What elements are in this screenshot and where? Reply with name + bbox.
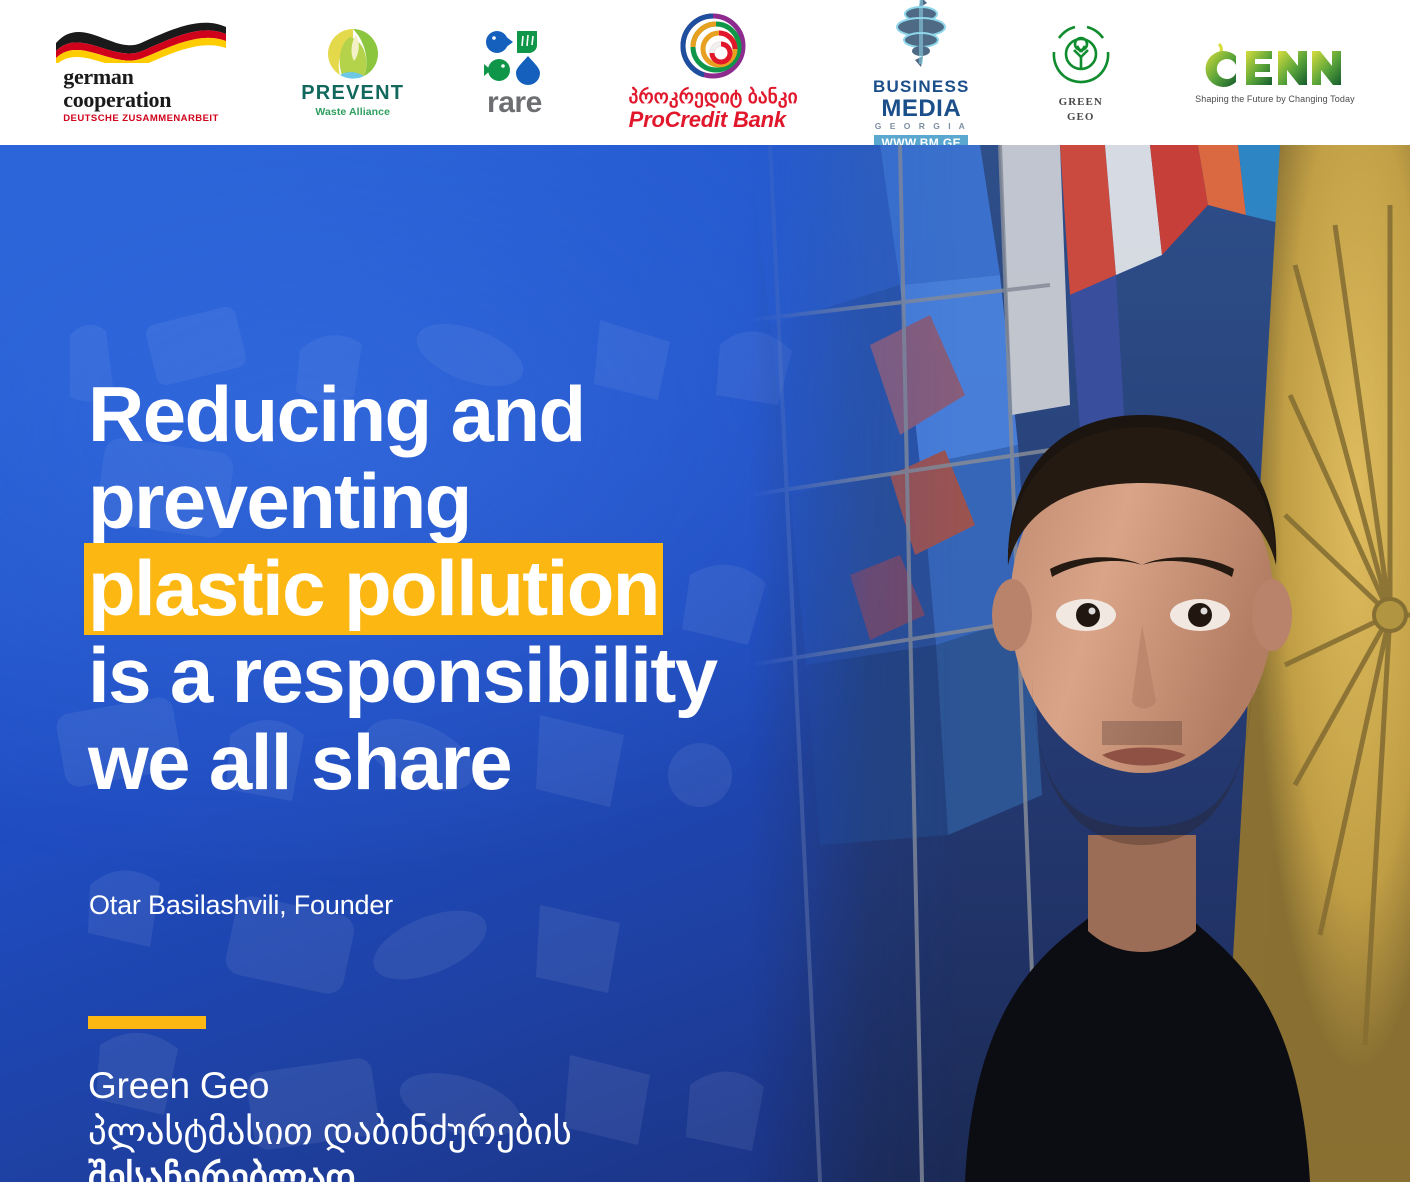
cenn-tagline: Shaping the Future by Changing Today [1195, 94, 1355, 104]
logo-rare: rare [475, 28, 553, 118]
logo-green-geo: GREEN GEO [1045, 22, 1117, 122]
prevent-wordmark: PREVENT [301, 82, 404, 105]
logo-business-media-georgia: BUSINESS MEDIA G E O R G I A WWW.BM.GE [873, 0, 970, 151]
headline-line-3-highlight: plastic pollution [84, 543, 663, 635]
gc-line1: german [63, 66, 219, 88]
rare-wordmark: rare [487, 88, 542, 118]
bm-line3: G E O R G I A [875, 121, 968, 133]
footer-org-name: Green Geo [88, 1063, 572, 1109]
prevent-leaf-icon [320, 27, 386, 79]
procredit-georgian-name: პროკრედიტ ბანკი [629, 88, 798, 108]
headline-line-1: Reducing and [88, 371, 888, 458]
accent-rule [88, 1016, 206, 1029]
logo-german-cooperation: german cooperation DEUTSCHE ZUSAMMENARBE… [52, 21, 230, 124]
green-geo-line1: GREEN [1059, 96, 1103, 108]
green-geo-line2: GEO [1067, 111, 1094, 123]
headline-line-5: we all share [88, 719, 888, 806]
partner-logo-bar: german cooperation DEUTSCHE ZUSAMMENARBE… [0, 0, 1410, 145]
green-geo-tree-icon [1045, 22, 1117, 94]
logo-prevent-waste-alliance: PREVENT Waste Alliance [305, 27, 400, 118]
bm-line1: BUSINESS [873, 78, 970, 96]
gc-line3: DEUTSCHE ZUSAMMENARBEIT [63, 113, 219, 124]
hero-banner: Reducing and preventing plastic pollutio… [0, 145, 1410, 1182]
german-flag-ribbon-icon [52, 21, 230, 63]
german-cooperation-wordmark: german cooperation DEUTSCHE ZUSAMMENARBE… [63, 66, 219, 124]
logo-procredit-bank: პროკრედიტ ბანკი ProCredit Bank [629, 13, 798, 131]
hero-headline: Reducing and preventing plastic pollutio… [88, 371, 888, 806]
headline-line-2: preventing [88, 458, 888, 545]
cenn-wordmark-icon [1200, 42, 1350, 96]
gc-line2: cooperation [63, 88, 219, 111]
footer-subtitle-ka-bold: შესაჩერებლად [88, 1155, 572, 1182]
hero-byline: Otar Basilashvili, Founder [89, 890, 393, 921]
headline-line-4: is a responsibility [88, 632, 888, 719]
procredit-english-name: ProCredit Bank [629, 108, 798, 131]
business-media-spiral-icon [894, 0, 948, 70]
logo-cenn: Shaping the Future by Changing Today [1192, 42, 1358, 104]
rare-symbol-icon [482, 28, 546, 86]
bm-line2: MEDIA [881, 96, 961, 121]
footer-subtitle-ka: პლასტმასით დაბინძურების [88, 1109, 572, 1155]
procredit-globe-icon [680, 13, 746, 79]
hero-footer: Green Geo პლასტმასით დაბინძურების შესაჩე… [88, 1063, 572, 1182]
prevent-tagline: Waste Alliance [315, 106, 390, 118]
